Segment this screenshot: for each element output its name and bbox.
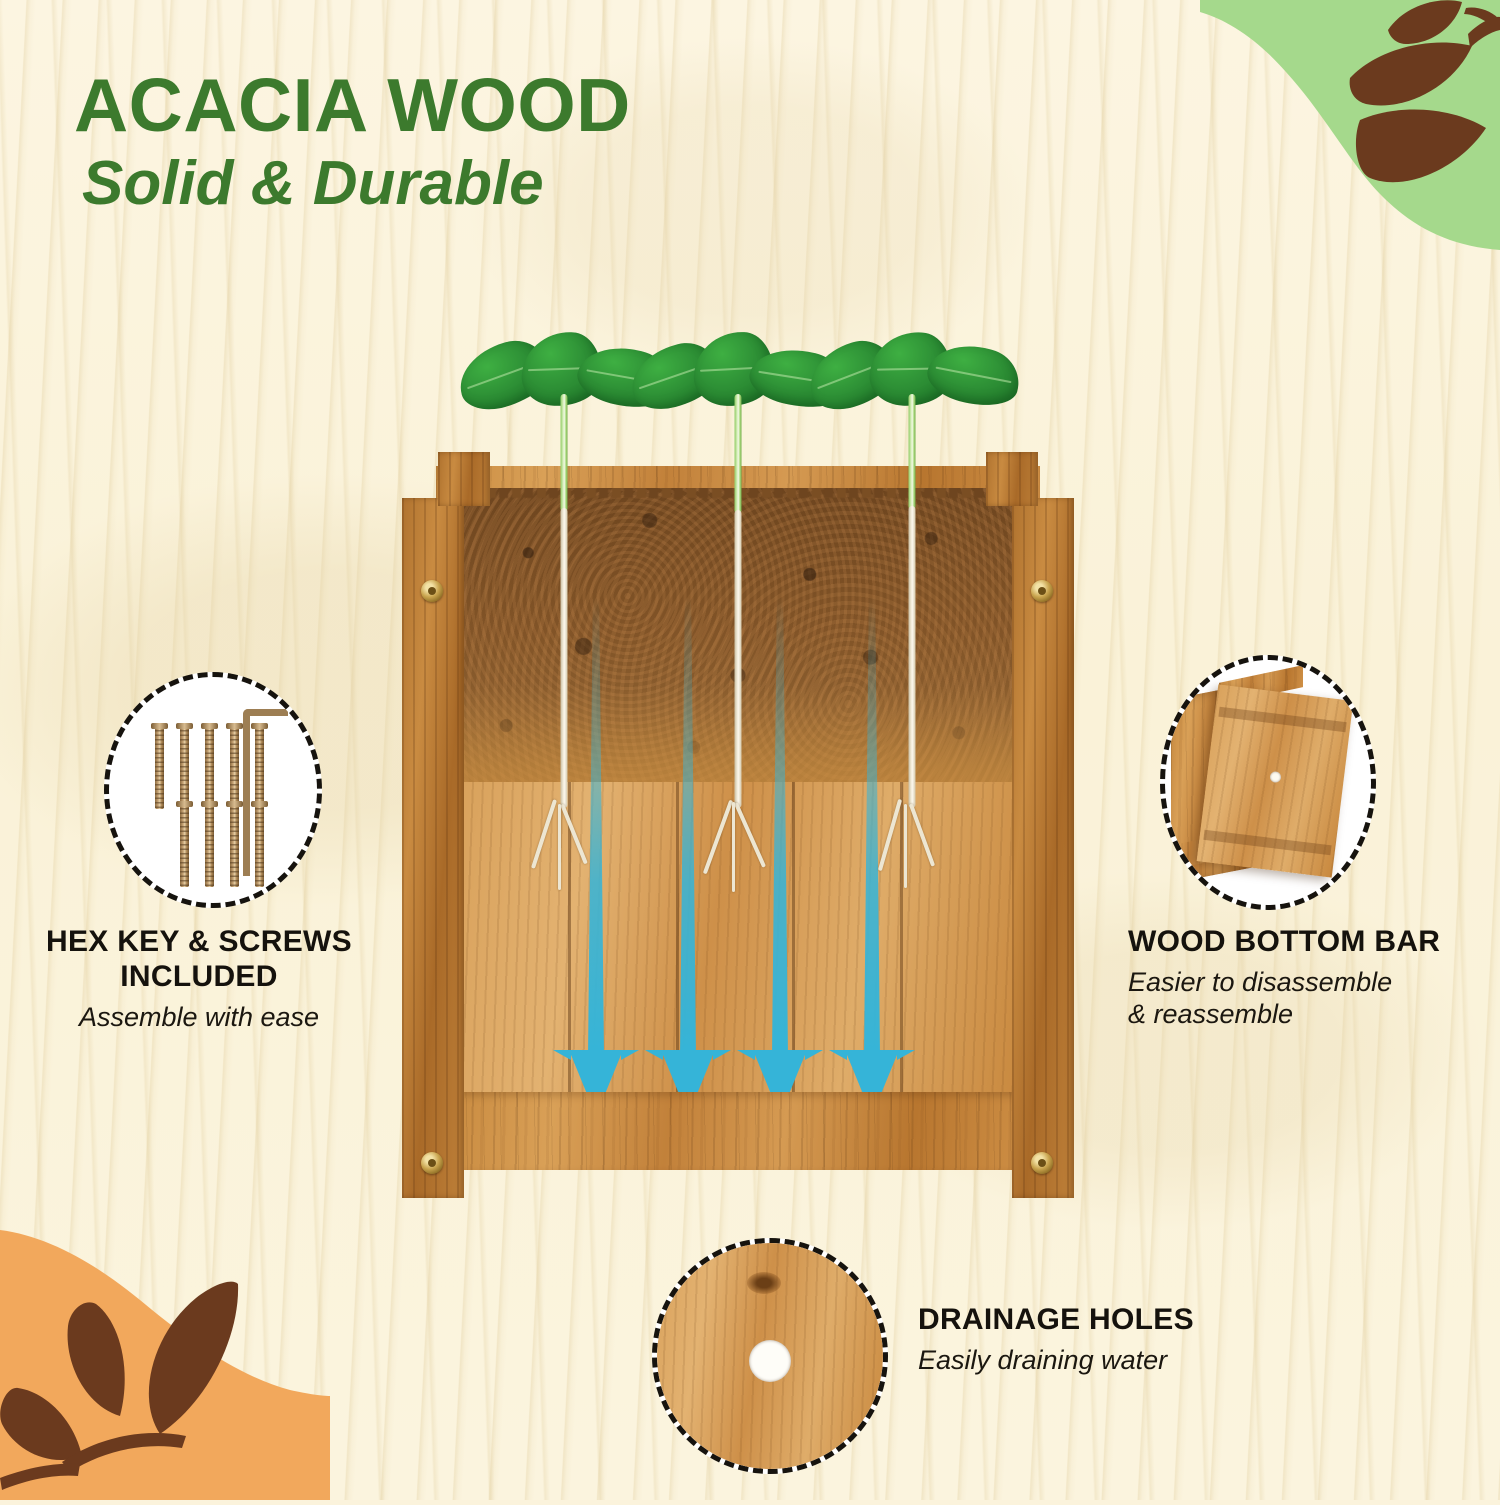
page-title: ACACIA WOOD [74, 68, 631, 143]
feature-title-line2: INCLUDED [120, 960, 277, 993]
feature-title: WOOD BOTTOM BAR [1128, 925, 1498, 960]
seedling-stem [909, 394, 916, 510]
brass-screw [1031, 580, 1053, 602]
brass-screw [1031, 1152, 1053, 1174]
seedling-stem-buried [909, 506, 916, 808]
brass-screw [421, 1152, 443, 1174]
drainage-hole [749, 1340, 791, 1382]
root [558, 804, 561, 890]
feature-caption-drainage-holes: DRAINAGE HOLES Easily draining water [918, 1303, 1338, 1376]
screws-and-hex-key-icon [109, 677, 317, 903]
callout-drainage-hole [652, 1238, 888, 1474]
root [732, 802, 735, 892]
root [909, 803, 935, 866]
feature-title: DRAINAGE HOLES [918, 1303, 1338, 1338]
root [878, 799, 902, 871]
root [734, 802, 766, 868]
seedling-stem [561, 394, 568, 512]
callout-wood-bottom-bar [1160, 655, 1376, 910]
feature-caption-hex-key: HEX KEY & SCREWS INCLUDED Assemble with … [14, 925, 384, 1033]
feature-subtitle: Assemble with ease [14, 1001, 384, 1033]
feature-caption-wood-bottom-bar: WOOD BOTTOM BAR Easier to disassemble & … [1128, 925, 1498, 1031]
feature-subtitle-line2: & reassemble [1128, 999, 1293, 1029]
feature-subtitle: Easily draining water [918, 1344, 1338, 1376]
hex-key-icon [243, 709, 288, 876]
headline-block: ACACIA WOOD Solid & Durable [74, 68, 631, 216]
feature-title: HEX KEY & SCREWS INCLUDED [14, 925, 384, 995]
seedling-stem-buried [561, 508, 568, 808]
seedling-stem-buried [735, 510, 742, 808]
callout-hex-key-screws [104, 672, 322, 908]
planter-bottom-bar [450, 1092, 1026, 1170]
feature-subtitle: Easier to disassemble & reassemble [1128, 966, 1498, 1031]
seedling-stem [735, 394, 742, 514]
root [904, 804, 907, 888]
root [703, 800, 733, 875]
planter-illustration [376, 452, 1096, 1242]
page-subtitle: Solid & Durable [82, 151, 631, 216]
brass-screw [421, 580, 443, 602]
feature-subtitle-line1: Easier to disassemble [1128, 967, 1392, 997]
root [560, 804, 588, 865]
seedling [802, 332, 1022, 892]
feature-title-line1: HEX KEY & SCREWS [46, 925, 352, 958]
root [531, 799, 557, 869]
wood-bottom-panel-icon [1165, 660, 1371, 905]
wood-disc-with-hole-icon [657, 1243, 883, 1469]
